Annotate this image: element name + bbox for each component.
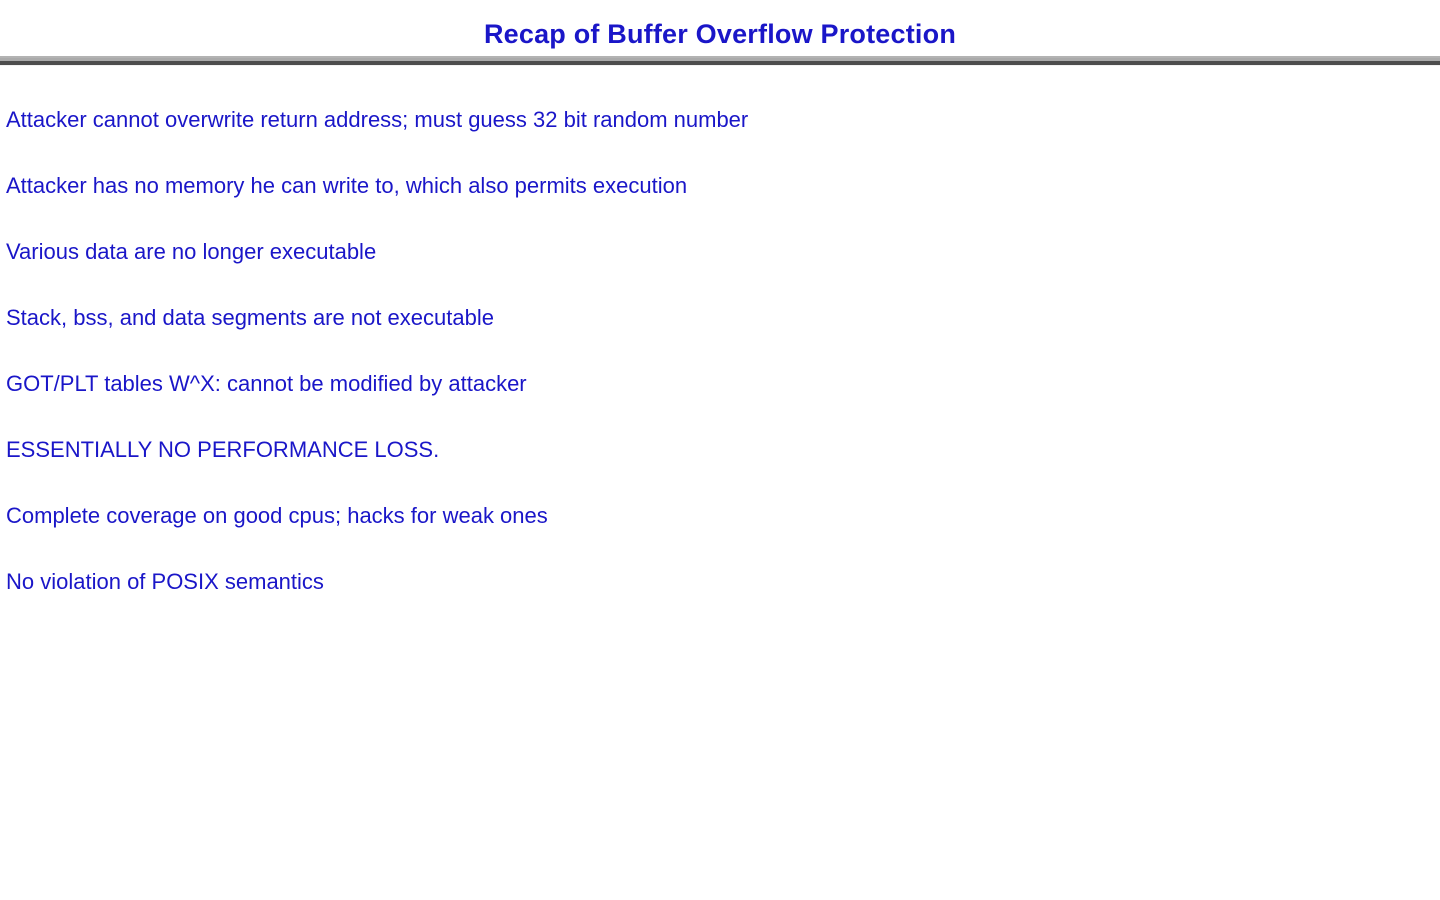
body-line-5: GOT/PLT tables W^X: cannot be modified b…	[6, 371, 527, 397]
body-line-2: Attacker has no memory he can write to, …	[6, 173, 687, 199]
body-line-1: Attacker cannot overwrite return address…	[6, 107, 748, 133]
body-line-6: ESSENTIALLY NO PERFORMANCE LOSS.	[6, 437, 439, 463]
body-line-4: Stack, bss, and data segments are not ex…	[6, 305, 494, 331]
slide-page: { "slide": { "title": "Recap of Buffer O…	[0, 0, 1440, 900]
page-title: Recap of Buffer Overflow Protection	[0, 0, 1440, 48]
body-line-7: Complete coverage on good cpus; hacks fo…	[6, 503, 548, 529]
title-divider	[0, 56, 1440, 66]
body-line-3: Various data are no longer executable	[6, 239, 376, 265]
body-line-8: No violation of POSIX semantics	[6, 569, 324, 595]
